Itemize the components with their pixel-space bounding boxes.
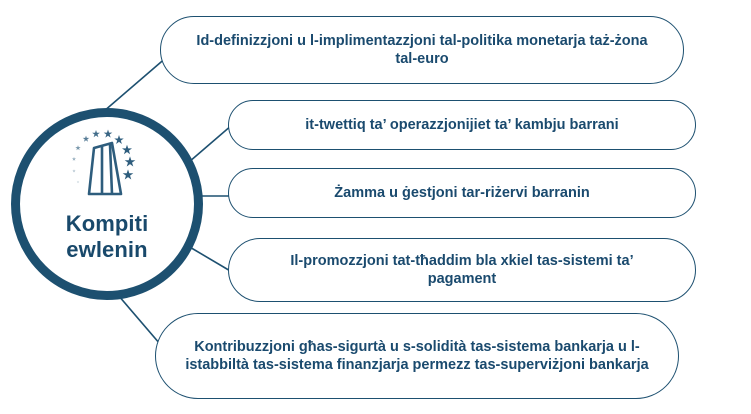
connector-line-2 xyxy=(189,125,232,162)
branch-box-4-text: Il-promozzjoni tat-tħaddim bla xkiel tas… xyxy=(229,252,695,288)
branch-box-2-text: it-twettiq ta’ operazzjonijiet ta’ kambj… xyxy=(279,116,644,134)
hub-label-line-1: Kompiti xyxy=(66,211,149,237)
branch-box-3: Żamma u ġestjoni tar-riżervi barranin xyxy=(228,168,696,218)
branch-box-1: Id-definizzjoni u l-implimentazzjoni tal… xyxy=(160,16,684,84)
branch-box-1-text: Id-definizzjoni u l-implimentazzjoni tal… xyxy=(161,32,683,68)
hub-circle: Kompiti ewlenin xyxy=(11,108,203,300)
branch-box-5-text: Kontribuzzjoni għas-sigurtà u s-solidità… xyxy=(156,338,678,374)
branch-box-2: it-twettiq ta’ operazzjonijiet ta’ kambj… xyxy=(228,100,696,150)
branch-box-4: Il-promozzjoni tat-tħaddim bla xkiel tas… xyxy=(228,238,696,302)
hub-label-line-2: ewlenin xyxy=(66,237,149,263)
branch-box-3-text: Żamma u ġestjoni tar-riżervi barranin xyxy=(308,184,615,202)
hub-label: Kompiti ewlenin xyxy=(66,211,149,263)
diagram-canvas: Kompiti ewlenin Id-definizzjoni u l-impl… xyxy=(0,0,751,414)
connector-line-4 xyxy=(188,246,232,272)
branch-box-5: Kontribuzzjoni għas-sigurtà u s-solidità… xyxy=(155,313,679,399)
ecb-building-stars-logo xyxy=(64,129,150,207)
